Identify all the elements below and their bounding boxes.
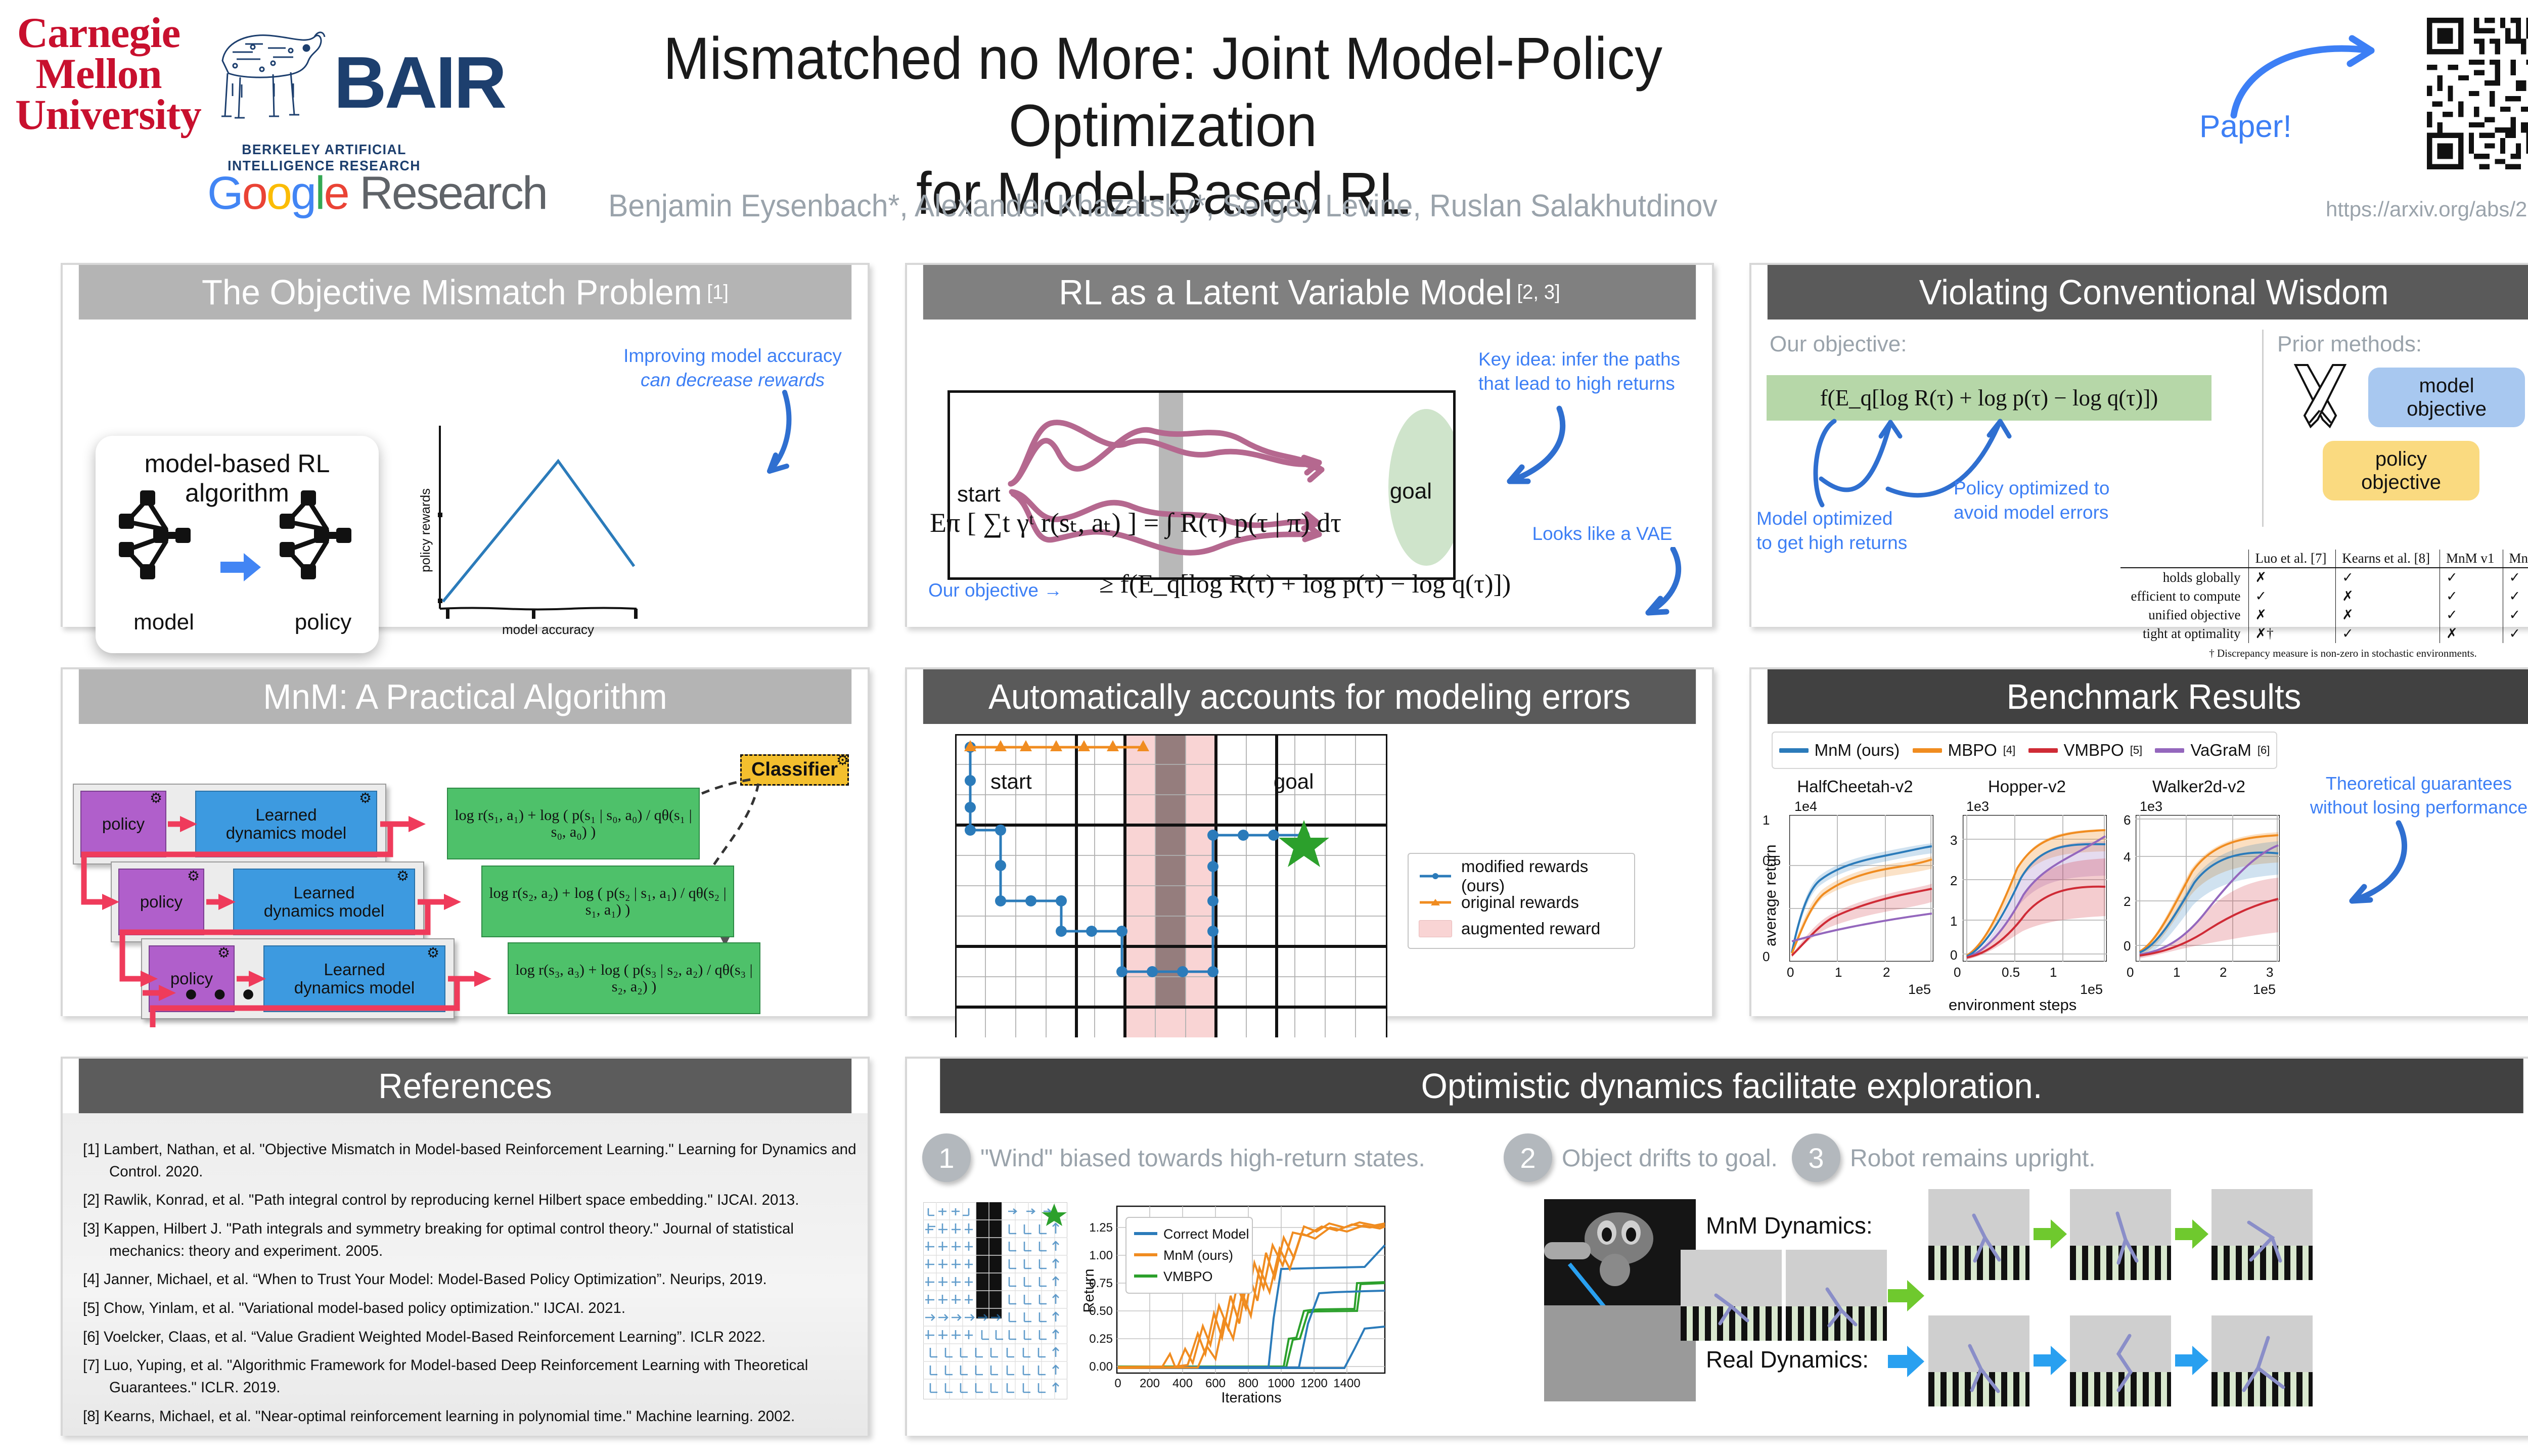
gridworld-svg: start goal	[955, 734, 1387, 1037]
annotation-key-idea: Key idea: infer the paths that lead to h…	[1478, 347, 1701, 396]
pill-model-objective: modelobjective	[2368, 368, 2525, 427]
theory-arrow-icon	[2328, 820, 2424, 916]
cell: ✗	[2249, 568, 2336, 587]
step-number-1-label: 1	[938, 1142, 954, 1174]
paper-url[interactable]: https://arxiv.org/abs/2110.02758	[2326, 197, 2528, 221]
panel-latent-variable-model: RL as a Latent Variable Model [2, 3]	[905, 263, 1714, 627]
panel-objective-mismatch: The Objective Mismatch Problem [1] model…	[61, 263, 870, 627]
mujoco-frame-initial-1	[1681, 1250, 1782, 1341]
wind-gridworld	[923, 1202, 1067, 1399]
legend-label: augmented reward	[1461, 919, 1600, 938]
scene-floor	[1544, 1305, 1696, 1401]
panel-optimistic-dynamics: Optimistic dynamics facilitate explorati…	[905, 1057, 2528, 1436]
real-dynamics-label: Real Dynamics:	[1706, 1346, 1869, 1373]
cmu-logo: Carnegie Mellon University	[15, 13, 182, 135]
cmu-line-2: Mellon	[15, 54, 182, 95]
mujoco-frame-real-2	[2070, 1315, 2171, 1406]
cell: ✓	[2503, 624, 2528, 643]
crossed-swords-icon	[2287, 360, 2353, 436]
benchmark-xlabel: environment steps	[1949, 996, 2076, 1014]
benchmark-legend-mbpo: MBPO[4]	[1913, 741, 2016, 760]
panel-benchmark-results-body: MnM (ours) MBPO[4] VMBPO[5] VaGraM[6] Ha…	[1751, 724, 2528, 1016]
th-kearns: Kearns et al. [8]	[2336, 550, 2440, 568]
mujoco-frame-real-3	[2211, 1315, 2313, 1406]
table-row: holds globally ✗ ✓ ✓ ✓	[2120, 568, 2528, 587]
legend-line-triangle-icon	[1419, 899, 1452, 906]
xt-wk-1: 1	[2173, 965, 2180, 980]
chart-yexp-walker: 1e3	[2140, 799, 2162, 814]
trajectory-diagram: start goal	[947, 390, 1456, 580]
chart-policy-rewards-xlabel: model accuracy	[452, 622, 644, 638]
vertical-divider	[2262, 330, 2264, 527]
xt-hc-0: 0	[1787, 965, 1794, 980]
panel-modeling-errors-body: start goal modified rewards (ours) o	[907, 724, 1712, 1016]
google-research-word: Research	[359, 167, 547, 219]
panel-objective-mismatch-body: model-based RL algorithm	[63, 320, 868, 627]
gridworld-legend: modified rewards (ours) original rewards…	[1408, 853, 1635, 949]
mujoco-frame-real-1	[1928, 1315, 2029, 1406]
legend-correct-model: Correct Model	[1163, 1226, 1249, 1242]
robot-pose-icon	[1681, 1250, 1782, 1341]
mbrl-label-model: model	[123, 610, 204, 635]
xt-hp-1: 1	[2050, 965, 2057, 980]
chart-title-walker: Walker2d-v2	[2115, 777, 2282, 796]
panel-benchmark-results: Benchmark Results MnM (ours) MBPO[4] VMB…	[1749, 667, 2528, 1016]
legend-label: MBPO	[1948, 741, 1997, 760]
google-research-logo: Google Research	[207, 167, 547, 220]
key-idea-arrow-icon	[1483, 405, 1574, 494]
benchmark-legend-mnm: MnM (ours)	[1779, 741, 1900, 760]
robot-pose-icon	[1928, 1189, 2029, 1280]
bair-wordmark: BAIR	[334, 40, 505, 125]
key-idea-line-2: that lead to high returns	[1478, 372, 1701, 396]
annotation-line-1: Improving model accuracy	[599, 344, 867, 368]
branch-arrow-down-icon	[1888, 1346, 1924, 1377]
paper-callout-label: Paper!	[2199, 109, 2292, 145]
our-objective-heading: Our objective:	[1770, 332, 1907, 357]
yt-r-125: 1.25	[1089, 1221, 1113, 1235]
benchmark-legend-vagram: VaGraM[6]	[2155, 741, 2270, 760]
panel-modeling-errors-header: Automatically accounts for modeling erro…	[923, 669, 1696, 724]
panel-mnm-algorithm: MnM: A Practical Algorithm Classifier ⚙	[61, 667, 870, 1016]
cell: ✓	[2503, 568, 2528, 587]
chart-yexp-hopper: 1e3	[1966, 799, 1989, 814]
legend-item-augmented-reward: augmented reward	[1419, 916, 1624, 942]
cell: ✗	[2249, 606, 2336, 624]
table-row: unified objective ✗ ✗ ✓ ✓	[2120, 606, 2528, 624]
trajectory-label-goal: goal	[1390, 479, 1432, 504]
chart-halfcheetah	[1789, 815, 1933, 962]
annotation-policy-optimized: Policy optimized to avoid model errors	[1954, 476, 2156, 525]
cell: ✓	[2440, 587, 2503, 606]
qr-code[interactable]	[2427, 18, 2528, 169]
equation-elbo-bound: ≥ f(E_q[log R(τ) + log p(τ) − log q(τ)])	[1099, 569, 1511, 599]
sequence-arrow-blue-1	[2034, 1346, 2067, 1375]
th-mnm-v2: MnM v2	[2503, 550, 2528, 568]
panel-latent-variable-model-body: start goal Key idea: infer the paths tha…	[907, 320, 1712, 627]
step-number-2-label: 2	[1520, 1142, 1536, 1174]
pill-model-objective-label: modelobjective	[2407, 374, 2487, 421]
cell: ✗†	[2249, 624, 2336, 643]
xt-r-1400: 1400	[1333, 1377, 1360, 1390]
policy-opt-line-1: Policy optimized to	[1954, 476, 2156, 500]
robot-pose-icon	[2211, 1315, 2313, 1406]
xt-r-600: 600	[1205, 1377, 1226, 1390]
chart-yexp-halfcheetah: 1e4	[1794, 799, 1817, 814]
legend-item-modified-rewards: modified rewards (ours)	[1419, 863, 1624, 889]
poster-root: Carnegie Mellon University BA	[0, 0, 2528, 1456]
legend-mnm: MnM (ours)	[1163, 1248, 1233, 1263]
panel-modeling-errors-title: Automatically accounts for modeling erro…	[988, 679, 1631, 714]
panel-mnm-algorithm-body: Classifier ⚙ policy ⚙ Learn	[63, 724, 868, 1016]
pill-policy-objective-label: policyobjective	[2361, 447, 2441, 494]
equation-expected-return: Eπ [ ∑t γᵗ r(sₜ, aₜ) ] = ∫ R(τ) p(τ | π)…	[930, 507, 1341, 538]
chart-return-xlabel: Iterations	[1221, 1390, 1281, 1404]
cell: ✓	[2336, 624, 2440, 643]
cell: ✗	[2336, 606, 2440, 624]
panel-violating-wisdom-title: Violating Conventional Wisdom	[1919, 275, 2389, 310]
annotation-theoretical-guarantees: Theoretical guarantees without losing pe…	[2308, 772, 2528, 820]
mbrl-label-policy: policy	[283, 610, 364, 635]
panel-benchmark-results-header: Benchmark Results	[1768, 669, 2528, 724]
sequence-arrow-green-1	[2034, 1219, 2067, 1249]
cell: ✗	[2336, 587, 2440, 606]
cmu-line-3: University	[15, 95, 182, 135]
step-number-1: 1	[922, 1133, 971, 1182]
legend-vmbpo: VMBPO	[1163, 1269, 1213, 1284]
robot-pose-icon	[2211, 1189, 2313, 1280]
annotation-arrow-down-icon	[710, 389, 796, 490]
yt-hp-2: 2	[1950, 873, 1957, 889]
legend-label: VaGraM	[2190, 741, 2251, 760]
mujoco-frame-mnm-1	[1928, 1189, 2029, 1280]
benchmark-legend: MnM (ours) MBPO[4] VMBPO[5] VaGraM[6]	[1772, 732, 2277, 769]
annotation-looks-like-vae: Looks like a VAE	[1509, 522, 1696, 546]
chart-return-vs-iterations-svg: Correct Model MnM (ours) VMBPO 1.25 1.00…	[1081, 1202, 1395, 1404]
chart-hopper	[1963, 815, 2107, 962]
chart-title-halfcheetah: HalfCheetah-v2	[1772, 777, 1938, 796]
gridworld-diagram: start goal	[955, 734, 1387, 1037]
chart-xexp-halfcheetah: 1e5	[1908, 982, 1931, 997]
robot-pose-icon	[1786, 1250, 1887, 1341]
yt-hc-1: 1	[1763, 812, 1770, 828]
th-mnm-v1: MnM v1	[2440, 550, 2503, 568]
algorithm-ellipsis: ● ● ●	[184, 979, 259, 1007]
row-label: unified objective	[2120, 606, 2249, 624]
step-caption-1: "Wind" biased towards high-return states…	[980, 1145, 1425, 1172]
panel-references: References [1] Lambert, Nathan, et al. "…	[61, 1057, 870, 1436]
row-label: holds globally	[2120, 568, 2249, 587]
panel-latent-variable-model-cite: [2, 3]	[1517, 282, 1560, 302]
yt-hp-0: 0	[1950, 947, 1957, 963]
panel-optimistic-dynamics-header: Optimistic dynamics facilitate explorati…	[940, 1059, 2523, 1113]
chart-xexp-walker: 1e5	[2253, 982, 2276, 997]
legend-line-icon	[2028, 748, 2058, 753]
step-caption-3: Robot remains upright.	[1850, 1145, 2096, 1172]
list-item: [4] Janner, Michael, et al. “When to Tru…	[83, 1268, 872, 1291]
panel-mnm-algorithm-header: MnM: A Practical Algorithm	[79, 669, 851, 724]
prior-methods-heading: Prior methods:	[2277, 332, 2422, 357]
panel-objective-mismatch-cite: [1]	[707, 282, 729, 302]
legend-line-dot-icon	[1419, 873, 1452, 880]
sequence-arrow-blue-2	[2175, 1346, 2208, 1375]
yt-r-100: 1.00	[1089, 1249, 1113, 1262]
bair-logo: BAIR BERKELEY ARTIFICIAL INTELLIGENCE RE…	[197, 13, 450, 174]
list-item: [5] Chow, Yinlam, et al. "Variational mo…	[83, 1297, 872, 1319]
th-luo: Luo et al. [7]	[2249, 550, 2336, 568]
trajectory-label-start: start	[957, 482, 1001, 507]
list-item: [6] Voelcker, Claas, et al. “Value Gradi…	[83, 1326, 872, 1348]
chart-title-hopper: Hopper-v2	[1944, 777, 2110, 796]
yt-wk-6: 6	[2124, 812, 2131, 828]
panel-violating-wisdom: Violating Conventional Wisdom Our object…	[1749, 263, 2528, 627]
step-caption-2: Object drifts to goal.	[1562, 1145, 1778, 1172]
legend-label: modified rewards (ours)	[1461, 857, 1624, 895]
table-footnote: † Discrepancy measure is non-zero in sto…	[2120, 647, 2528, 660]
robot-pose-icon	[1928, 1315, 2029, 1406]
model-opt-line-1: Model optimized	[1756, 507, 1933, 531]
legend-label: VMBPO	[2064, 741, 2124, 760]
comparison-table: Luo et al. [7] Kearns et al. [8] MnM v1 …	[2120, 550, 2528, 660]
mujoco-frame-initial-2	[1786, 1250, 1887, 1341]
chart-walker	[2136, 815, 2280, 962]
panel-violating-wisdom-header: Violating Conventional Wisdom	[1768, 265, 2528, 320]
grid-start-text: start	[990, 769, 1032, 793]
legend-patch-icon	[1419, 920, 1452, 937]
panel-objective-mismatch-title: The Objective Mismatch Problem	[202, 275, 702, 310]
model-network-icon	[116, 485, 197, 586]
chart-return-ylabel: Return	[1081, 1268, 1097, 1312]
xt-hp-0: 0	[1954, 965, 1961, 980]
theory-line-2: without losing performance	[2308, 796, 2528, 820]
table-row: tight at optimality ✗† ✓ ✗ ✓	[2120, 624, 2528, 643]
panel-latent-variable-model-title: RL as a Latent Variable Model	[1059, 275, 1512, 310]
references-list: [1] Lambert, Nathan, et al. "Objective M…	[83, 1139, 872, 1434]
xt-hp-05: 0.5	[2002, 965, 2020, 980]
chart-xexp-hopper: 1e5	[2080, 982, 2103, 997]
theory-line-1: Theoretical guarantees	[2308, 772, 2528, 796]
legend-label: MnM (ours)	[1815, 741, 1900, 760]
title-line-1: Mismatched no More: Joint Model-Policy O…	[552, 25, 1774, 160]
policy-network-icon	[277, 485, 357, 586]
grid-goal-text: goal	[1274, 769, 1314, 793]
yt-hc-0: 0	[1763, 949, 1770, 965]
xt-r-1200: 1200	[1300, 1377, 1327, 1390]
yt-wk-0: 0	[2124, 938, 2131, 954]
yt-hc-05: 0.5	[1763, 853, 1781, 869]
xt-wk-2: 2	[2220, 965, 2227, 980]
cell: ✓	[2249, 587, 2336, 606]
cell: ✓	[2503, 587, 2528, 606]
table-row: efficient to compute ✓ ✗ ✓ ✓	[2120, 587, 2528, 606]
panel-references-header: References	[79, 1059, 851, 1113]
xt-wk-0: 0	[2127, 965, 2134, 980]
annotation-model-optimized: Model optimized to get high returns	[1756, 507, 1933, 555]
mbrl-algorithm-card: model-based RL algorithm	[96, 436, 379, 653]
panel-violating-wisdom-body: Our objective: Prior methods: f(E_q[log …	[1751, 320, 2528, 627]
cell: ✓	[2440, 606, 2503, 624]
xt-wk-3: 3	[2266, 965, 2273, 980]
legend-line-icon	[1779, 748, 1809, 753]
legend-line-icon	[1913, 748, 1942, 753]
list-item: [2] Rawlik, Konrad, et al. "Path integra…	[83, 1189, 872, 1211]
chart-policy-rewards-svg	[407, 421, 664, 638]
xt-r-400: 400	[1172, 1377, 1193, 1390]
xt-r-1000: 1000	[1268, 1377, 1294, 1390]
list-item: [3] Kappen, Hilbert J. "Path integrals a…	[83, 1218, 872, 1262]
yt-wk-2: 2	[2124, 894, 2131, 909]
yt-hp-1: 1	[1950, 914, 1957, 929]
step-number-3: 3	[1792, 1133, 1840, 1182]
branch-arrow-up-icon	[1888, 1280, 1924, 1311]
list-item: [8] Kearns, Michael, et al. "Near-optima…	[83, 1405, 872, 1428]
pill-policy-objective: policyobjective	[2323, 441, 2479, 500]
robot-pose-icon	[2070, 1315, 2171, 1406]
cell: ✗	[2440, 624, 2503, 643]
benchmark-legend-vmbpo: VMBPO[5]	[2028, 741, 2143, 760]
xt-hc-2: 2	[1883, 965, 1890, 980]
cell: ✓	[2440, 568, 2503, 587]
panel-mnm-algorithm-title: MnM: A Practical Algorithm	[263, 679, 667, 714]
right-arrow-icon	[220, 553, 261, 581]
annotation-improving-accuracy: Improving model accuracy can decrease re…	[599, 344, 867, 392]
object-drift-scene	[1544, 1199, 1696, 1401]
yt-wk-4: 4	[2124, 849, 2131, 865]
cmu-line-1: Carnegie	[15, 13, 182, 54]
xt-r-800: 800	[1238, 1377, 1258, 1390]
panel-objective-mismatch-header: The Objective Mismatch Problem [1]	[79, 265, 851, 320]
mujoco-frame-mnm-2	[2070, 1189, 2171, 1280]
legend-line-icon	[2155, 748, 2184, 753]
yt-hp-3: 3	[1950, 833, 1957, 848]
author-list: Benjamin Eysenbach*, Alexander Khazatsky…	[538, 188, 1787, 224]
sequence-arrow-green-2	[2175, 1219, 2208, 1249]
annotation-line-2: can decrease rewards	[599, 368, 867, 392]
panel-modeling-errors: Automatically accounts for modeling erro…	[905, 667, 1714, 1016]
mujoco-frame-mnm-3	[2211, 1189, 2313, 1280]
model-opt-line-2: to get high returns	[1756, 531, 1933, 555]
panel-latent-variable-model-header: RL as a Latent Variable Model [2, 3]	[923, 265, 1696, 320]
mnm-dynamics-label: MnM Dynamics:	[1706, 1212, 1873, 1239]
th-blank	[2120, 550, 2249, 568]
cell: ✓	[2503, 606, 2528, 624]
panel-optimistic-dynamics-title: Optimistic dynamics facilitate explorati…	[1421, 1068, 2043, 1104]
chart-policy-rewards: policy rewards model accuracy	[407, 421, 664, 638]
yt-r-000: 0.00	[1089, 1360, 1113, 1374]
step-number-3-label: 3	[1808, 1142, 1824, 1174]
gear-icon: ⚙	[836, 752, 849, 768]
step-number-2: 2	[1504, 1133, 1552, 1182]
poster-header: Carnegie Mellon University BA	[0, 0, 2528, 243]
bair-bear-icon	[197, 13, 349, 139]
key-idea-line-1: Key idea: infer the paths	[1478, 347, 1701, 372]
list-item: [1] Lambert, Nathan, et al. "Objective M…	[83, 1139, 872, 1182]
robot-pose-icon	[2070, 1189, 2171, 1280]
panel-optimistic-dynamics-body: 1 "Wind" biased towards high-return stat…	[907, 1113, 2528, 1436]
row-label: tight at optimality	[2120, 624, 2249, 643]
trajectory-paths	[950, 393, 1456, 580]
panel-references-body: [1] Lambert, Nathan, et al. "Objective M…	[63, 1113, 868, 1436]
xt-r-0: 0	[1114, 1377, 1121, 1390]
panel-references-title: References	[378, 1068, 552, 1104]
legend-label: original rewards	[1461, 893, 1579, 912]
list-item: [7] Luo, Yuping, et al. "Algorithmic Fra…	[83, 1354, 872, 1398]
row-label: efficient to compute	[2120, 587, 2249, 606]
panel-benchmark-results-title: Benchmark Results	[2007, 679, 2301, 714]
chart-policy-rewards-ylabel: policy rewards	[418, 488, 433, 572]
xt-hc-1: 1	[1835, 965, 1842, 980]
policy-opt-line-2: avoid model errors	[1954, 500, 2156, 525]
table-header-row: Luo et al. [7] Kearns et al. [8] MnM v1 …	[2120, 550, 2528, 568]
our-objective-label: Our objective →	[928, 578, 1095, 603]
vae-arrow-icon	[1620, 547, 1691, 623]
chart-return-vs-iterations: Correct Model MnM (ours) VMBPO 1.25 1.00…	[1081, 1202, 1395, 1404]
cell: ✓	[2336, 568, 2440, 587]
yt-r-025: 0.25	[1089, 1332, 1113, 1346]
xt-r-200: 200	[1140, 1377, 1160, 1390]
